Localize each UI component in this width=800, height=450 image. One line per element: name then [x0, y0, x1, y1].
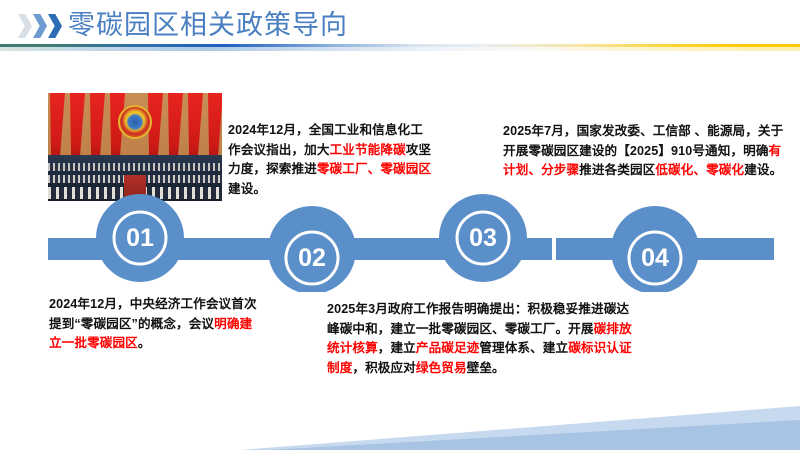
emphasis-text: 零碳工厂、零碳园区: [317, 162, 431, 176]
policy-text-block-02: 2024年12月，全国工业和信息化工作会议指出，加大工业节能降碳攻坚力度，探索推…: [228, 121, 434, 199]
slide-root: 零碳园区相关政策导向: [0, 0, 800, 450]
body-text: 2025年3月政府工作报告明确提出：积极稳妥推进碳达峰碳中和，建立一批零碳园区、…: [327, 302, 629, 336]
emphasis-text: 产品碳足迹: [416, 341, 479, 355]
timeline-node-04: 04: [611, 206, 699, 292]
timeline-svg: 01 02 03 04: [0, 192, 800, 292]
chevron-right-icon: [18, 14, 32, 38]
conference-photo: [47, 92, 223, 202]
slide-header: 零碳园区相关政策导向: [0, 0, 800, 56]
body-text: 建设。: [744, 163, 782, 177]
page-title: 零碳园区相关政策导向: [68, 5, 348, 45]
chevron-group-icon: [18, 14, 62, 38]
divider-line-bottom: [0, 47, 800, 51]
audience-row: [48, 163, 222, 171]
body-text: 。: [138, 336, 151, 350]
timeline-node-02: 02: [268, 206, 356, 292]
body-text: 壁垒。: [467, 361, 505, 375]
policy-text-block-01: 2024年12月，中央经济工作会议首次提到“零碳园区”的概念，会议明确建立一批零…: [49, 295, 263, 354]
emphasis-text: 绿色贸易: [416, 361, 467, 375]
policy-text-block-03: 2025年7月，国家发改委、工信部 、能源局，关于开展零碳园区建设的【2025】…: [503, 122, 785, 181]
timeline-node-label: 03: [469, 224, 497, 252]
emphasis-text: 工业节能降碳: [330, 143, 406, 157]
body-text: 2025年7月，国家发改委、工信部 、能源局，关于开展零碳园区建设的【2025】…: [503, 124, 783, 158]
body-text: ，积极应对: [352, 361, 415, 375]
body-text: 推进各类园区: [579, 163, 655, 177]
timeline-node-label: 04: [641, 244, 669, 272]
timeline-node-01: 01: [96, 194, 184, 282]
emphasis-text: 低碳化、零碳化: [655, 163, 744, 177]
policy-text-block-04: 2025年3月政府工作报告明确提出：积极稳妥推进碳达峰碳中和，建立一批零碳园区、…: [327, 300, 639, 378]
header-divider: [0, 44, 800, 52]
timeline-node-03: 03: [439, 194, 527, 282]
body-text: ，建立: [378, 341, 416, 355]
timeline-node-label: 02: [298, 244, 326, 272]
timeline-graphic: 01 02 03 04: [0, 192, 800, 292]
body-text: 建设。: [228, 182, 266, 196]
chevron-right-icon: [33, 14, 47, 38]
chevron-right-icon: [48, 14, 62, 38]
body-text: 管理体系、建立: [479, 341, 568, 355]
timeline-node-label: 01: [126, 224, 154, 252]
national-emblem-icon: [118, 105, 152, 139]
